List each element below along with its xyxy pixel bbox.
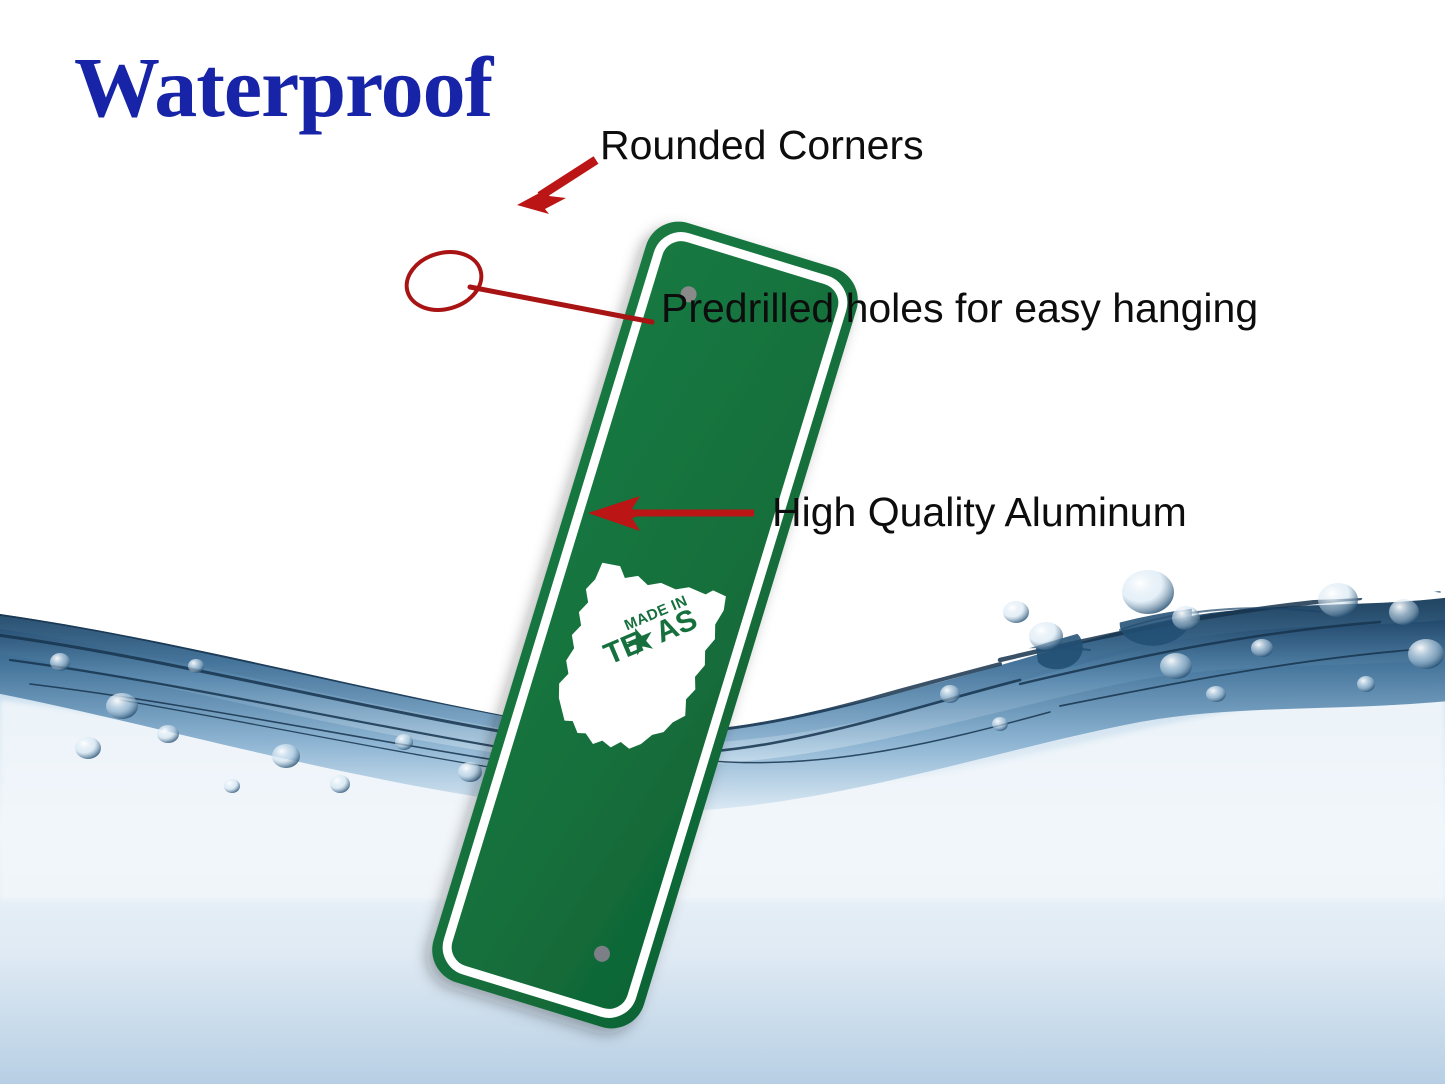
page-title: Waterproof bbox=[74, 44, 492, 130]
callout-label-predrilled-holes: Predrilled holes for easy hanging bbox=[661, 285, 1258, 332]
callout-label-rounded-corners: Rounded Corners bbox=[600, 122, 924, 169]
product-feature-image: MADE IN TE ★ AS bbox=[0, 0, 1445, 1084]
callout-label-high-quality-aluminum: High Quality Aluminum bbox=[772, 489, 1187, 536]
predrilled-holes-pointer-icon bbox=[400, 244, 652, 322]
rounded-corners-arrow-icon bbox=[517, 160, 596, 214]
high-quality-aluminum-arrow-icon bbox=[588, 496, 754, 531]
